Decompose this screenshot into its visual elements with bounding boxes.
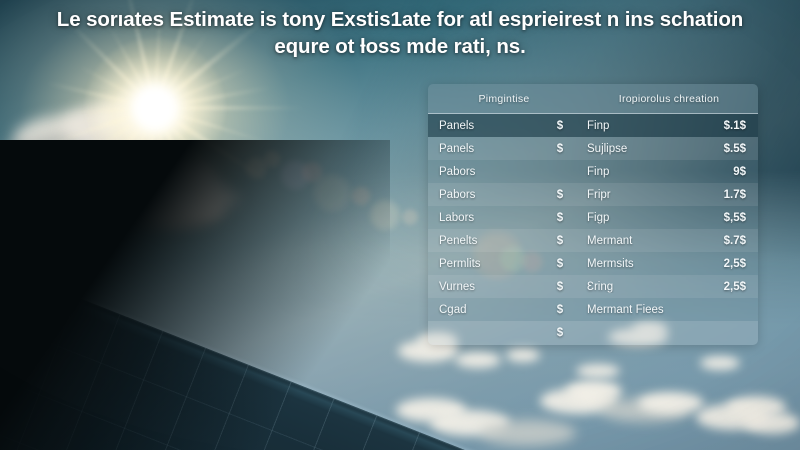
row-description-cell: Ɛring bbox=[580, 281, 686, 293]
row-name-cell: Panels bbox=[428, 120, 540, 132]
row-currency-cell: $ bbox=[540, 143, 580, 155]
row-amount-cell: $,5$ bbox=[686, 212, 758, 224]
row-currency-cell: $ bbox=[540, 212, 580, 224]
row-currency-cell: $ bbox=[540, 189, 580, 201]
row-name-cell: Pabors bbox=[428, 166, 540, 178]
row-amount-cell: $.7$ bbox=[686, 235, 758, 247]
column-header-amount[interactable]: Iropiorolus chreation bbox=[580, 93, 758, 105]
solar-panel-shadow bbox=[0, 140, 390, 450]
screenshot-root: Le sorıates Estimate is tony Exstis1ate … bbox=[0, 0, 800, 450]
estimate-table-panel[interactable]: Pimgintise Iropiorolus chreation Panels$… bbox=[428, 84, 758, 345]
row-name-cell: Permlits bbox=[428, 258, 540, 270]
row-amount-cell: 2,5$ bbox=[686, 258, 758, 270]
column-header-description[interactable]: Pimgintise bbox=[428, 93, 580, 105]
row-name-cell: Cgad bbox=[428, 304, 540, 316]
footer-currency-symbol: $ bbox=[540, 327, 580, 339]
row-name-cell: Vurnes bbox=[428, 281, 540, 293]
row-name-cell: Panels bbox=[428, 143, 540, 155]
table-row[interactable]: Penelts$Mermant$.7$ bbox=[428, 229, 758, 252]
page-title: Le sorıates Estimate is tony Exstis1ate … bbox=[0, 6, 800, 60]
table-header-row: Pimgintise Iropiorolus chreation bbox=[428, 84, 758, 114]
row-description-cell: Mermant bbox=[580, 235, 686, 247]
row-currency-cell: $ bbox=[540, 304, 580, 316]
row-description-cell: Mermant Fiees bbox=[580, 304, 686, 316]
table-row[interactable]: Panels$Sujlipse$.5$ bbox=[428, 137, 758, 160]
row-currency-cell: $ bbox=[540, 120, 580, 132]
row-name-cell: Labors bbox=[428, 212, 540, 224]
row-amount-cell: 9$ bbox=[686, 166, 758, 178]
row-name-cell: Pabors bbox=[428, 189, 540, 201]
row-name-cell: Penelts bbox=[428, 235, 540, 247]
table-footer-row: $ bbox=[428, 321, 758, 345]
row-description-cell: Finp bbox=[580, 120, 686, 132]
table-row[interactable]: PaborsFinp9$ bbox=[428, 160, 758, 183]
table-row[interactable]: Permlits$Mermsits2,5$ bbox=[428, 252, 758, 275]
row-description-cell: Sujlipse bbox=[580, 143, 686, 155]
row-amount-cell: $.1$ bbox=[686, 120, 758, 132]
row-currency-cell: $ bbox=[540, 258, 580, 270]
table-body: Panels$Finp$.1$Panels$Sujlipse$.5$Pabors… bbox=[428, 114, 758, 321]
row-description-cell: Finp bbox=[580, 166, 686, 178]
table-row[interactable]: Pabors$Fripr1.7$ bbox=[428, 183, 758, 206]
row-currency-cell: $ bbox=[540, 281, 580, 293]
row-description-cell: Mermsits bbox=[580, 258, 686, 270]
table-row[interactable]: Panels$Finp$.1$ bbox=[428, 114, 758, 137]
table-row[interactable]: Vurnes$Ɛring2,5$ bbox=[428, 275, 758, 298]
row-amount-cell: $.5$ bbox=[686, 143, 758, 155]
row-amount-cell: 2,5$ bbox=[686, 281, 758, 293]
row-currency-cell: $ bbox=[540, 235, 580, 247]
table-row[interactable]: Cgad$Mermant Fiees bbox=[428, 298, 758, 321]
row-amount-cell: 1.7$ bbox=[686, 189, 758, 201]
row-description-cell: Fripr bbox=[580, 189, 686, 201]
table-row[interactable]: Labors$Figp$,5$ bbox=[428, 206, 758, 229]
title-line-1: Le sorıates Estimate is tony Exstis1ate … bbox=[16, 6, 784, 33]
title-line-2: equre ot ƚoss mde rati, ns. bbox=[16, 33, 784, 60]
row-description-cell: Figp bbox=[580, 212, 686, 224]
